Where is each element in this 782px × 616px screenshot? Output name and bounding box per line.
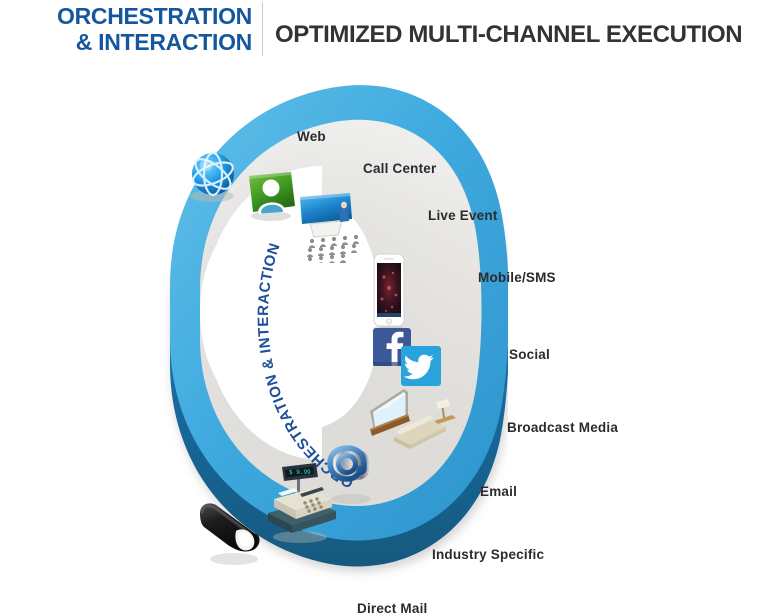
brand-line-2: & INTERACTION xyxy=(8,29,252,55)
page-header: ORCHESTRATION & INTERACTION OPTIMIZED MU… xyxy=(0,0,782,58)
mailbox-icon xyxy=(192,495,274,567)
channel-label-call-center: Call Center xyxy=(363,161,436,176)
channel-label-live-event: Live Event xyxy=(428,208,498,223)
channel-label-web: Web xyxy=(297,129,326,144)
brand-line-1: ORCHESTRATION xyxy=(8,3,252,29)
header-divider xyxy=(262,2,263,56)
page-title: OPTIMIZED MULTI-CHANNEL EXECUTION xyxy=(275,21,742,49)
globe-icon xyxy=(182,148,246,206)
smartphone-icon xyxy=(365,251,413,335)
channel-label-direct-mail: Direct Mail xyxy=(357,601,427,616)
channel-label-social: Social xyxy=(509,347,550,362)
tv-couch-icon xyxy=(364,381,460,451)
social-badges-icon xyxy=(371,326,447,388)
svg-text:$ 9.99: $ 9.99 xyxy=(289,469,311,476)
channel-label-email: Email xyxy=(480,484,517,499)
channel-label-industry-specific: Industry Specific xyxy=(432,547,544,562)
channel-label-broadcast-media: Broadcast Media xyxy=(507,420,618,435)
channel-label-mobile-sms: Mobile/SMS xyxy=(478,270,556,285)
brand-block: ORCHESTRATION & INTERACTION xyxy=(8,3,252,55)
diagram-stage: ORCHESTRATION & INTERACTION xyxy=(0,58,782,587)
